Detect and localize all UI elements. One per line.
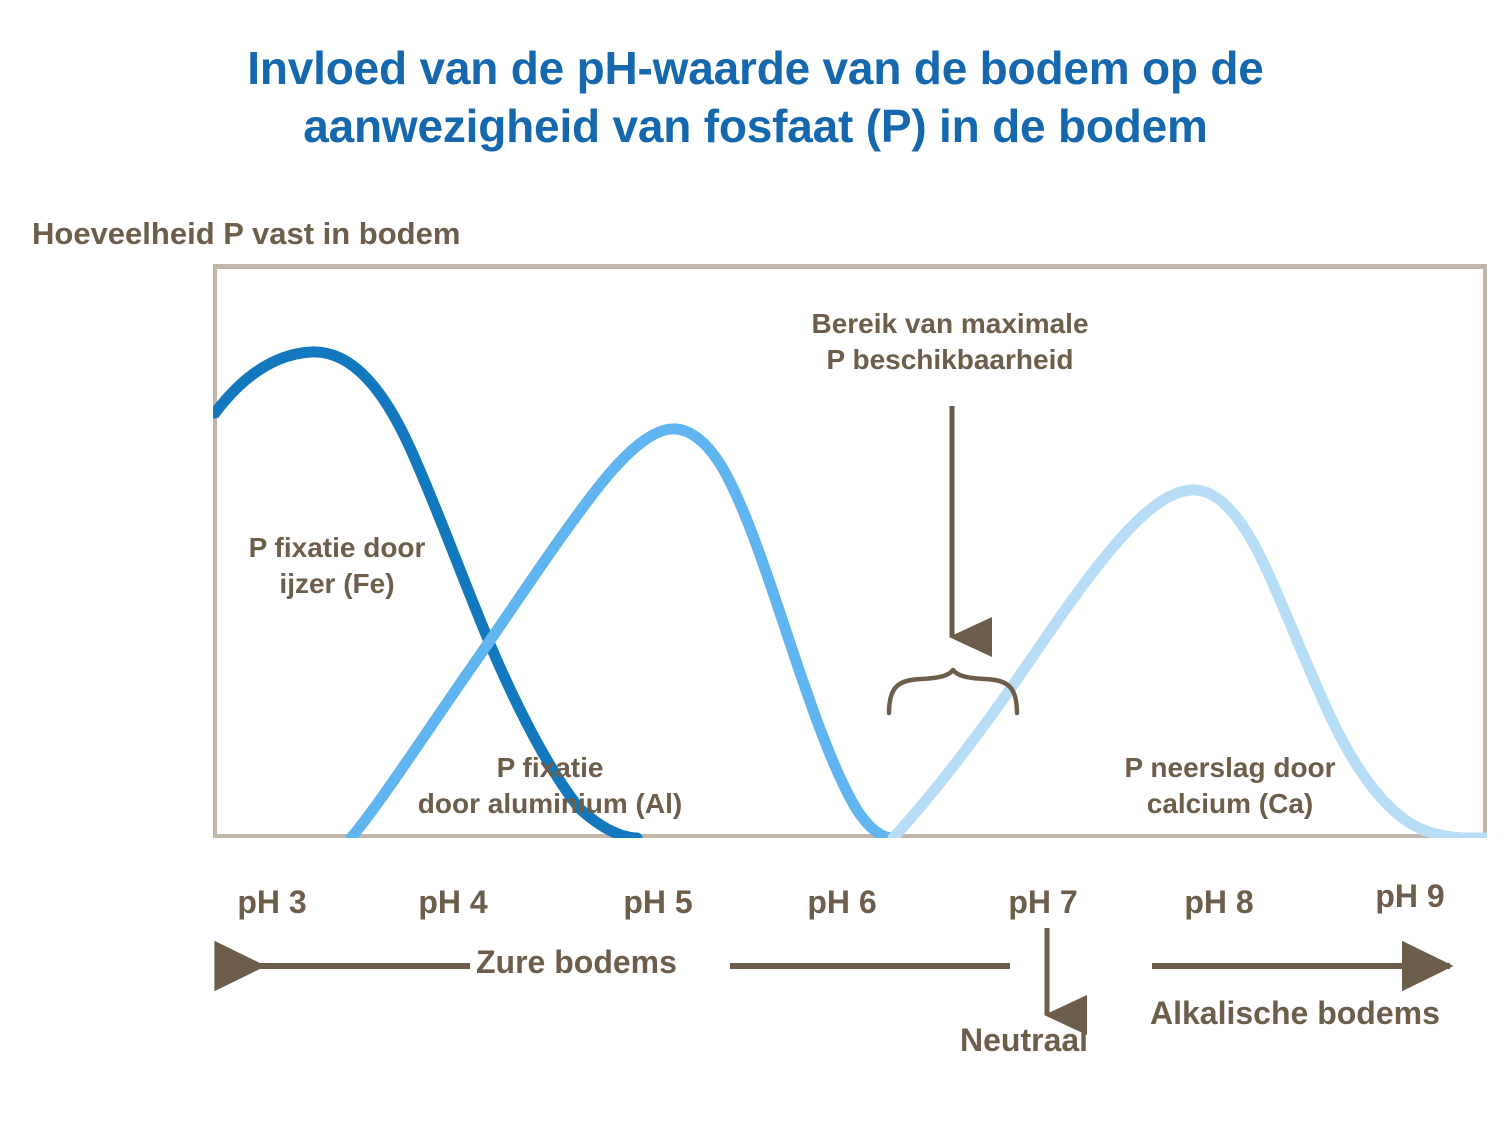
y-axis-caption: Hoeveelheid P vast in bodem <box>32 216 460 252</box>
x-tick-ph4: pH 4 <box>373 884 533 921</box>
x-tick-ph7: pH 7 <box>963 884 1123 921</box>
curve-label-al: P fixatie door aluminium (Al) <box>380 750 720 823</box>
x-tick-ph9: pH 9 <box>1330 878 1490 915</box>
slide-canvas: Invloed van de pH-waarde van de bodem op… <box>0 0 1511 1125</box>
x-tick-ph3: pH 3 <box>192 884 352 921</box>
axis-range-label-alkaline: Alkalische bodems <box>1150 995 1440 1032</box>
axis-range-label-acidic: Zure bodems <box>470 944 683 981</box>
x-tick-ph8: pH 8 <box>1139 884 1299 921</box>
curve-label-ca: P neerslag door calcium (Ca) <box>1085 750 1375 823</box>
x-tick-ph6: pH 6 <box>762 884 922 921</box>
annotation-label-max-availability: Bereik van maximale P beschikbaarheid <box>770 306 1130 379</box>
curve-label-fe: P fixatie door ijzer (Fe) <box>217 530 457 603</box>
page-title: Invloed van de pH-waarde van de bodem op… <box>0 40 1511 155</box>
x-tick-ph5: pH 5 <box>578 884 738 921</box>
axis-label-neutral: Neutraal <box>960 1022 1088 1059</box>
